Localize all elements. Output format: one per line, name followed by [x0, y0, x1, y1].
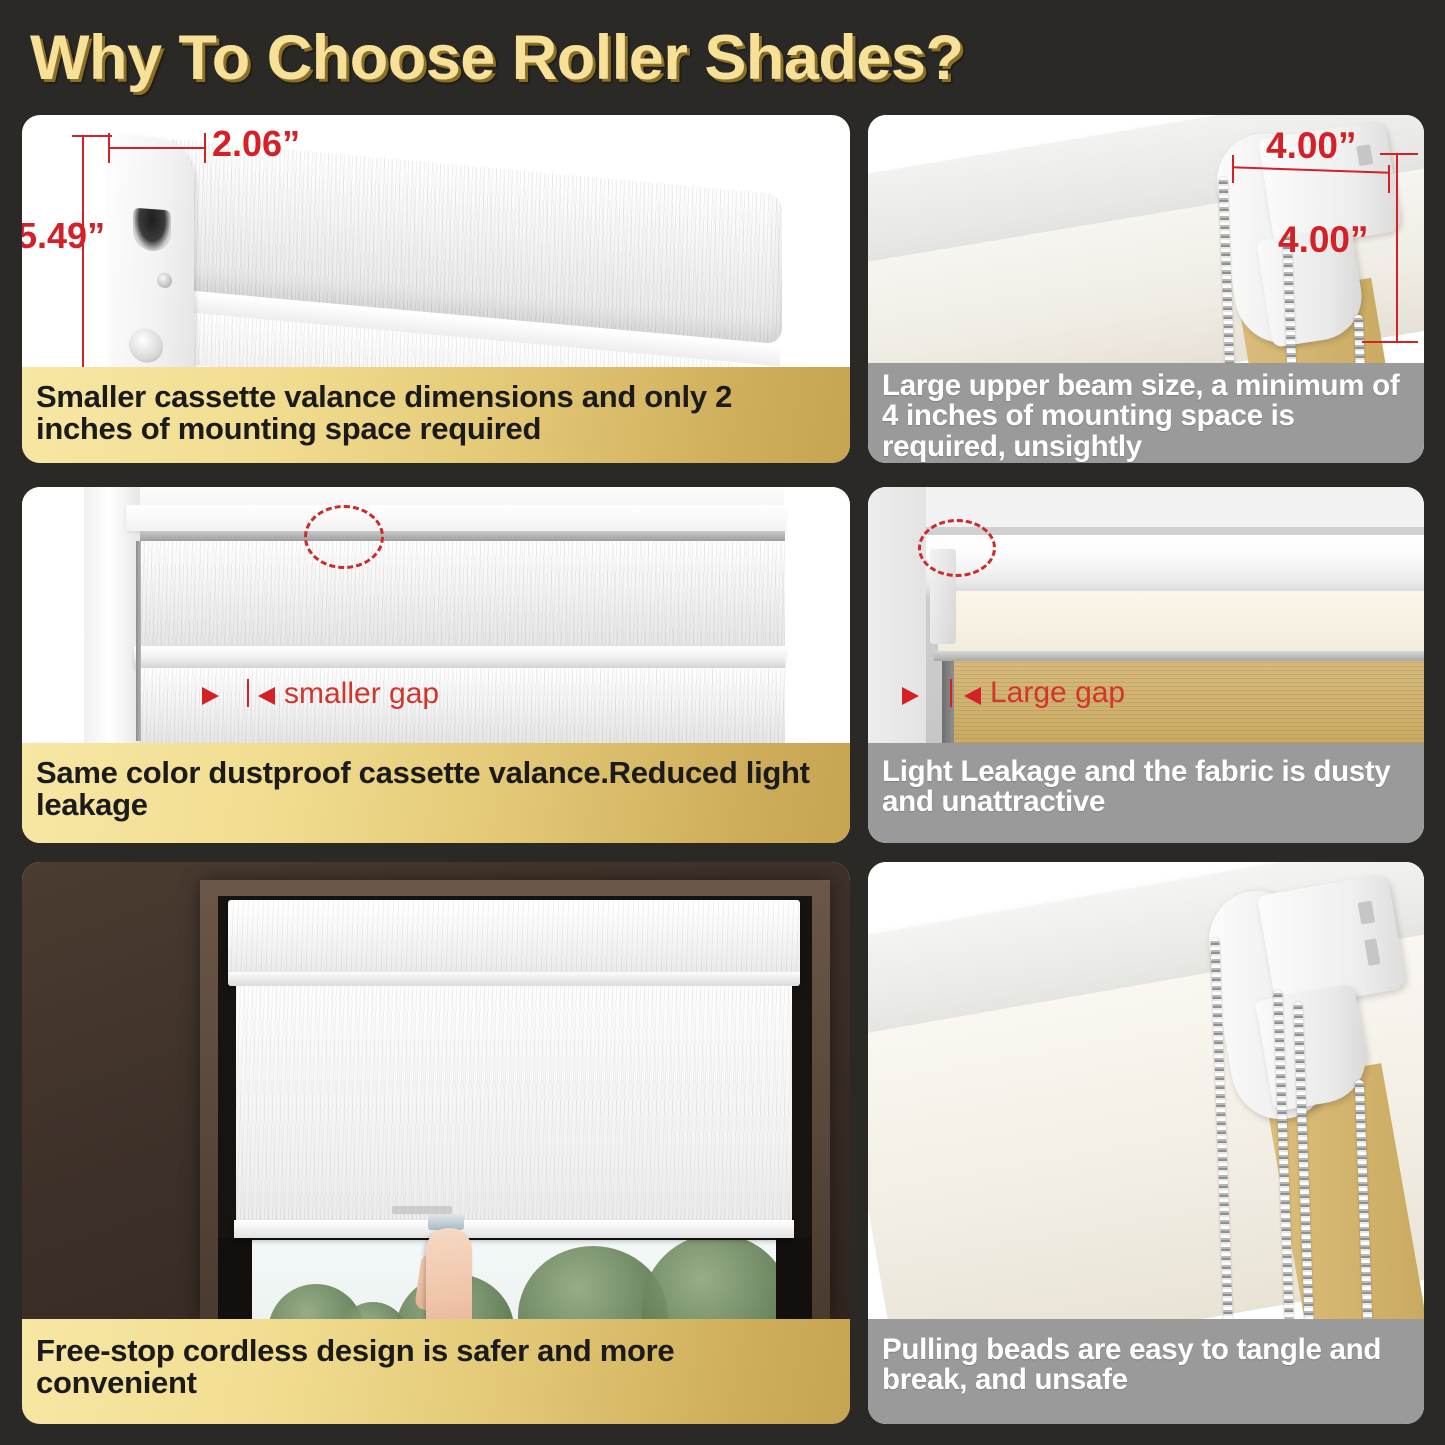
gap-arrow-left-icon: [964, 687, 981, 705]
width-dim-tick-right: [204, 133, 206, 163]
gap-marker-line: [247, 679, 249, 707]
bracket-notch-icon: [1358, 901, 1376, 925]
beam-height-line: [1396, 153, 1398, 343]
valance-lip: [228, 972, 800, 986]
gap-marker-line: [950, 679, 952, 707]
panel-3-caption: Same color dustproof cassette valance.Re…: [22, 743, 850, 843]
gap-arrow-right-icon: [902, 687, 919, 705]
beam-width-tick-right: [1388, 165, 1390, 193]
highlight-circle-icon: [918, 519, 996, 577]
valance-end-cap: [109, 134, 194, 385]
width-dimension-label: 2.06”: [212, 123, 300, 165]
end-cap-knob-icon: [129, 327, 163, 363]
shade-bottom-bar: [234, 1220, 794, 1238]
panel-large-upper-beam: 4.00” 4.00” Large upper beam size, a min…: [868, 115, 1424, 463]
beam-height-tick-top: [1380, 153, 1418, 155]
bottom-rail: [934, 651, 1424, 661]
height-dimension-label: 5.49”: [22, 215, 105, 257]
panel-light-leakage: Large gap Light Leakage and the fabric i…: [868, 487, 1424, 843]
side-gap-line: [136, 541, 141, 741]
panel-cassette-valance-dimensions: 2.06” 5.49” Smaller cassette valance dim…: [22, 115, 850, 463]
panel-1-caption: Smaller cassette valance dimensions and …: [22, 367, 850, 463]
window-frame-left: [84, 487, 140, 787]
roller-tube: [926, 535, 1424, 597]
highlight-circle-icon: [304, 505, 384, 569]
beam-height-tick-bottom: [1362, 341, 1418, 343]
header-bar: Why To Choose Roller Shades?: [0, 0, 1445, 108]
roller-shade-fabric: [236, 986, 792, 1228]
width-dim-line: [108, 147, 204, 149]
shade-fabric-upper: [140, 541, 785, 646]
cassette-head-rail: [140, 531, 785, 541]
panel-pulling-beads: Pulling beads are easy to tangle and bre…: [868, 862, 1424, 1424]
shade-fabric-lower: [140, 668, 785, 743]
beam-height-label: 4.00”: [1278, 219, 1369, 261]
end-cap-slot-icon: [133, 208, 171, 253]
gap-label: smaller gap: [284, 677, 439, 711]
panel-5-caption: Free-stop cordless design is safer and m…: [22, 1319, 850, 1424]
cream-fabric-band: [938, 591, 1424, 653]
frame-bevel: [126, 505, 786, 531]
gap-arrow-left-icon: [258, 687, 275, 705]
bracket-notch-icon: [1356, 144, 1373, 166]
gap-label: Large gap: [990, 676, 1125, 710]
bracket-notch-icon: [1364, 938, 1380, 966]
panel-dustproof-cassette: smaller gap Same color dustproof cassett…: [22, 487, 850, 843]
cassette-mid-rail: [134, 646, 785, 668]
beam-width-tick-left: [1232, 155, 1234, 183]
panel-6-caption: Pulling beads are easy to tangle and bre…: [868, 1319, 1424, 1424]
page-title: Why To Choose Roller Shades?: [30, 22, 963, 94]
beam-width-label: 4.00”: [1266, 125, 1357, 167]
gap-arrow-right-icon: [202, 687, 219, 705]
panel-4-caption: Light Leakage and the fabric is dusty an…: [868, 743, 1424, 843]
height-dim-tick-top: [72, 135, 112, 137]
end-cap-screw-icon: [157, 272, 172, 288]
panel-cordless-design: Free-stop cordless design is safer and m…: [22, 862, 850, 1424]
panel-2-caption: Large upper beam size, a minimum of 4 in…: [868, 363, 1424, 463]
brand-mark: [392, 1206, 452, 1214]
